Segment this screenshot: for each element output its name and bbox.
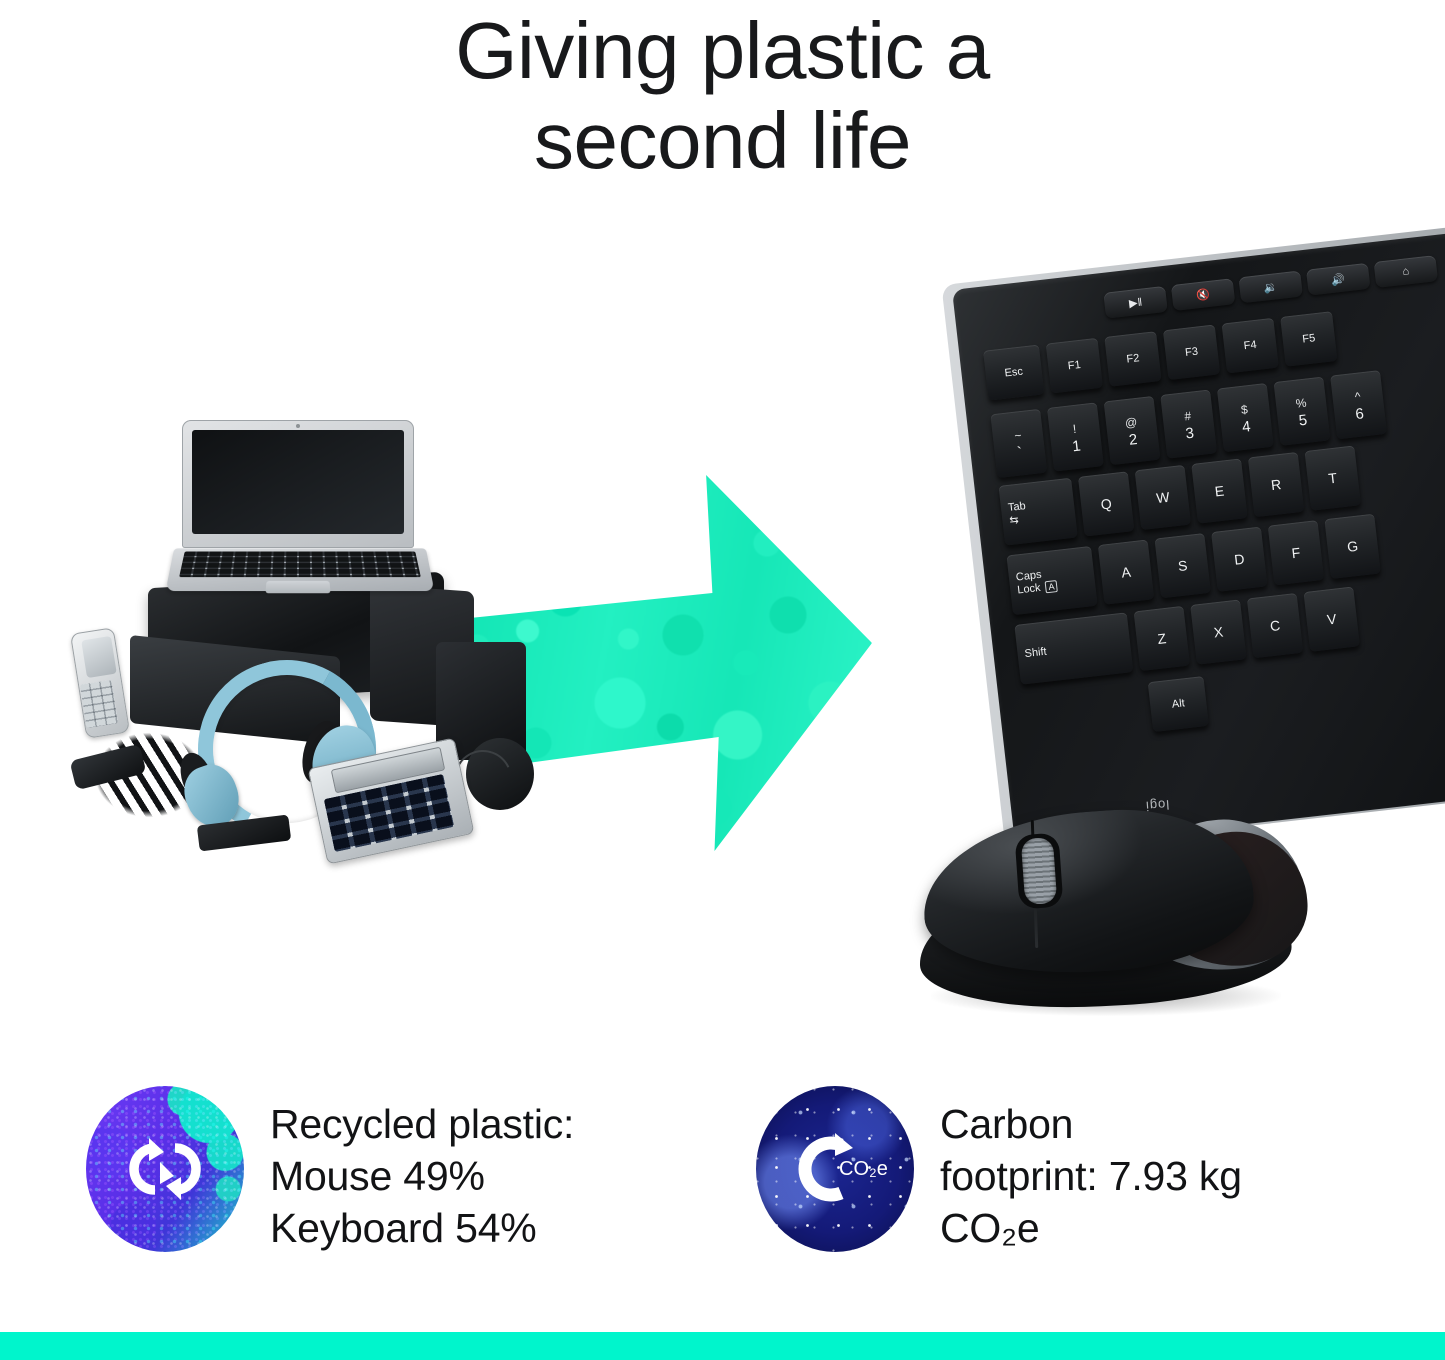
key-5[interactable]: % 5 <box>1274 377 1331 446</box>
key-v[interactable]: V <box>1303 586 1359 651</box>
keyboard-product: ▶‖ 🔇 🔉 🔊 ⌂ Esc F1 F2 F3 F4 F5 ~ ` ! <box>952 233 1445 846</box>
key-2[interactable]: @ 2 <box>1104 396 1161 465</box>
key-1[interactable]: ! 1 <box>1047 402 1104 471</box>
key-w[interactable]: W <box>1135 465 1191 530</box>
laptop-camera <box>296 424 300 428</box>
key-tab[interactable]: Tab ⇆ <box>998 478 1077 546</box>
key-f2[interactable]: F2 <box>1104 331 1161 387</box>
key-esc[interactable]: Esc <box>983 345 1044 401</box>
key-caps-lock[interactable]: Caps LockA <box>1006 546 1097 615</box>
key-c[interactable]: C <box>1247 593 1303 658</box>
key-r[interactable]: R <box>1248 452 1304 517</box>
key-a[interactable]: A <box>1098 539 1154 604</box>
footer-accent-bar <box>0 1332 1445 1360</box>
mouse-brand-logo: logi <box>1145 797 1170 814</box>
carbon-footprint-icon: CO₂e <box>756 1086 914 1252</box>
key-f[interactable]: F <box>1268 520 1324 585</box>
key-q[interactable]: Q <box>1078 471 1134 536</box>
recycled-plastic-medal <box>86 1086 244 1252</box>
sustainability-badges: Recycled plastic: Mouse 49% Keyboard 54%… <box>0 1086 1445 1286</box>
recycled-plastic-text: Recycled plastic: Mouse 49% Keyboard 54% <box>270 1086 574 1254</box>
mouse-scroll-wheel[interactable] <box>1021 837 1058 905</box>
key-backtick[interactable]: ~ ` <box>990 409 1047 478</box>
key-s[interactable]: S <box>1154 533 1210 598</box>
recycled-plastic-badge: Recycled plastic: Mouse 49% Keyboard 54% <box>86 1086 574 1254</box>
flip-phone-keypad <box>80 680 118 728</box>
laptop-screen <box>192 430 404 534</box>
key-f4[interactable]: F4 <box>1222 318 1279 374</box>
page-title: Giving plastic a second life <box>0 6 1445 187</box>
key-alt[interactable]: Alt <box>1148 676 1209 732</box>
ewaste-pile <box>70 420 540 850</box>
carbon-footprint-badge: CO₂e Carbon footprint: 7.93 kg CO₂e <box>756 1086 1242 1254</box>
carbon-footprint-medal: CO₂e <box>756 1086 914 1252</box>
key-6[interactable]: ^ 6 <box>1330 370 1387 439</box>
carbon-icon-label: CO₂e <box>839 1158 888 1180</box>
mouse-product: logi <box>905 790 1305 1030</box>
tab-arrows-icon: ⇆ <box>1009 514 1020 528</box>
key-shift[interactable]: Shift <box>1014 612 1133 684</box>
laptop-trackpad <box>265 581 330 593</box>
key-f3[interactable]: F3 <box>1163 324 1220 380</box>
key-3[interactable]: # 3 <box>1160 389 1217 458</box>
key-e[interactable]: E <box>1191 458 1247 523</box>
key-f5[interactable]: F5 <box>1280 311 1337 367</box>
key-z[interactable]: Z <box>1134 606 1190 671</box>
key-t[interactable]: T <box>1305 445 1361 510</box>
hero-illustration: ▶‖ 🔇 🔉 🔊 ⌂ Esc F1 F2 F3 F4 F5 ~ ` ! <box>0 230 1445 1070</box>
caps-lock-indicator-icon: A <box>1045 580 1058 594</box>
modifier-key-row: Alt <box>1148 676 1209 732</box>
laptop-keyboard <box>179 552 421 578</box>
key-f1[interactable]: F1 <box>1046 338 1103 394</box>
key-d[interactable]: D <box>1211 527 1267 592</box>
key-x[interactable]: X <box>1190 599 1246 664</box>
key-4[interactable]: $ 4 <box>1217 383 1274 452</box>
flip-phone-screen <box>81 636 117 678</box>
product-infographic: Giving plastic a second life <box>0 0 1445 1360</box>
carbon-footprint-text: Carbon footprint: 7.93 kg CO₂e <box>940 1086 1242 1254</box>
recycle-loop-icon <box>86 1086 244 1252</box>
key-g[interactable]: G <box>1324 514 1380 579</box>
